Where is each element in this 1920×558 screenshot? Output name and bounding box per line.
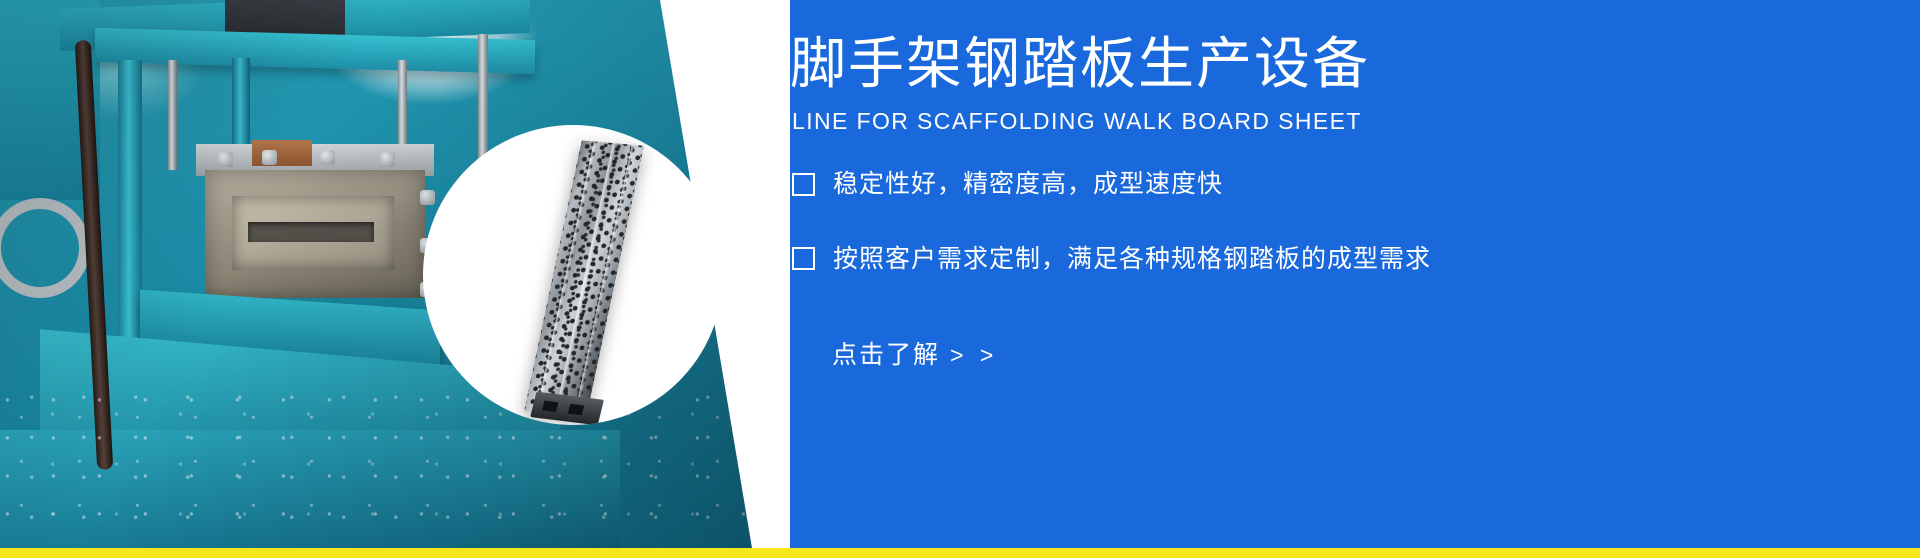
product-circle [423, 125, 723, 425]
page-subtitle: LINE FOR SCAFFOLDING WALK BOARD SHEET [792, 108, 1362, 136]
bottom-accent-strip [0, 548, 1920, 558]
feature-text: 按照客户需求定制，满足各种规格钢踏板的成型需求 [833, 243, 1431, 276]
feature-text: 稳定性好，精密度高，成型速度快 [833, 168, 1223, 201]
product-photo [502, 126, 706, 425]
promo-banner: 脚手架钢踏板生产设备 LINE FOR SCAFFOLDING WALK BOA… [0, 0, 1920, 558]
banner-content: 脚手架钢踏板生产设备 LINE FOR SCAFFOLDING WALK BOA… [790, 0, 1920, 548]
square-bullet-icon [792, 173, 815, 196]
learn-more-label: 点击了解 [832, 341, 940, 369]
list-item: 按照客户需求定制，满足各种规格钢踏板的成型需求 [792, 243, 1792, 276]
board-end-cap [530, 392, 604, 425]
steel-walk-board [524, 140, 644, 416]
list-item: 稳定性好，精密度高，成型速度快 [792, 168, 1792, 201]
feature-list: 稳定性好，精密度高，成型速度快 按照客户需求定制，满足各种规格钢踏板的成型需求 [792, 168, 1792, 317]
square-bullet-icon [792, 247, 815, 270]
learn-more-link[interactable]: 点击了解> > [832, 335, 998, 371]
page-title: 脚手架钢踏板生产设备 [790, 34, 1370, 94]
chevron-right-icon: > > [950, 342, 998, 368]
